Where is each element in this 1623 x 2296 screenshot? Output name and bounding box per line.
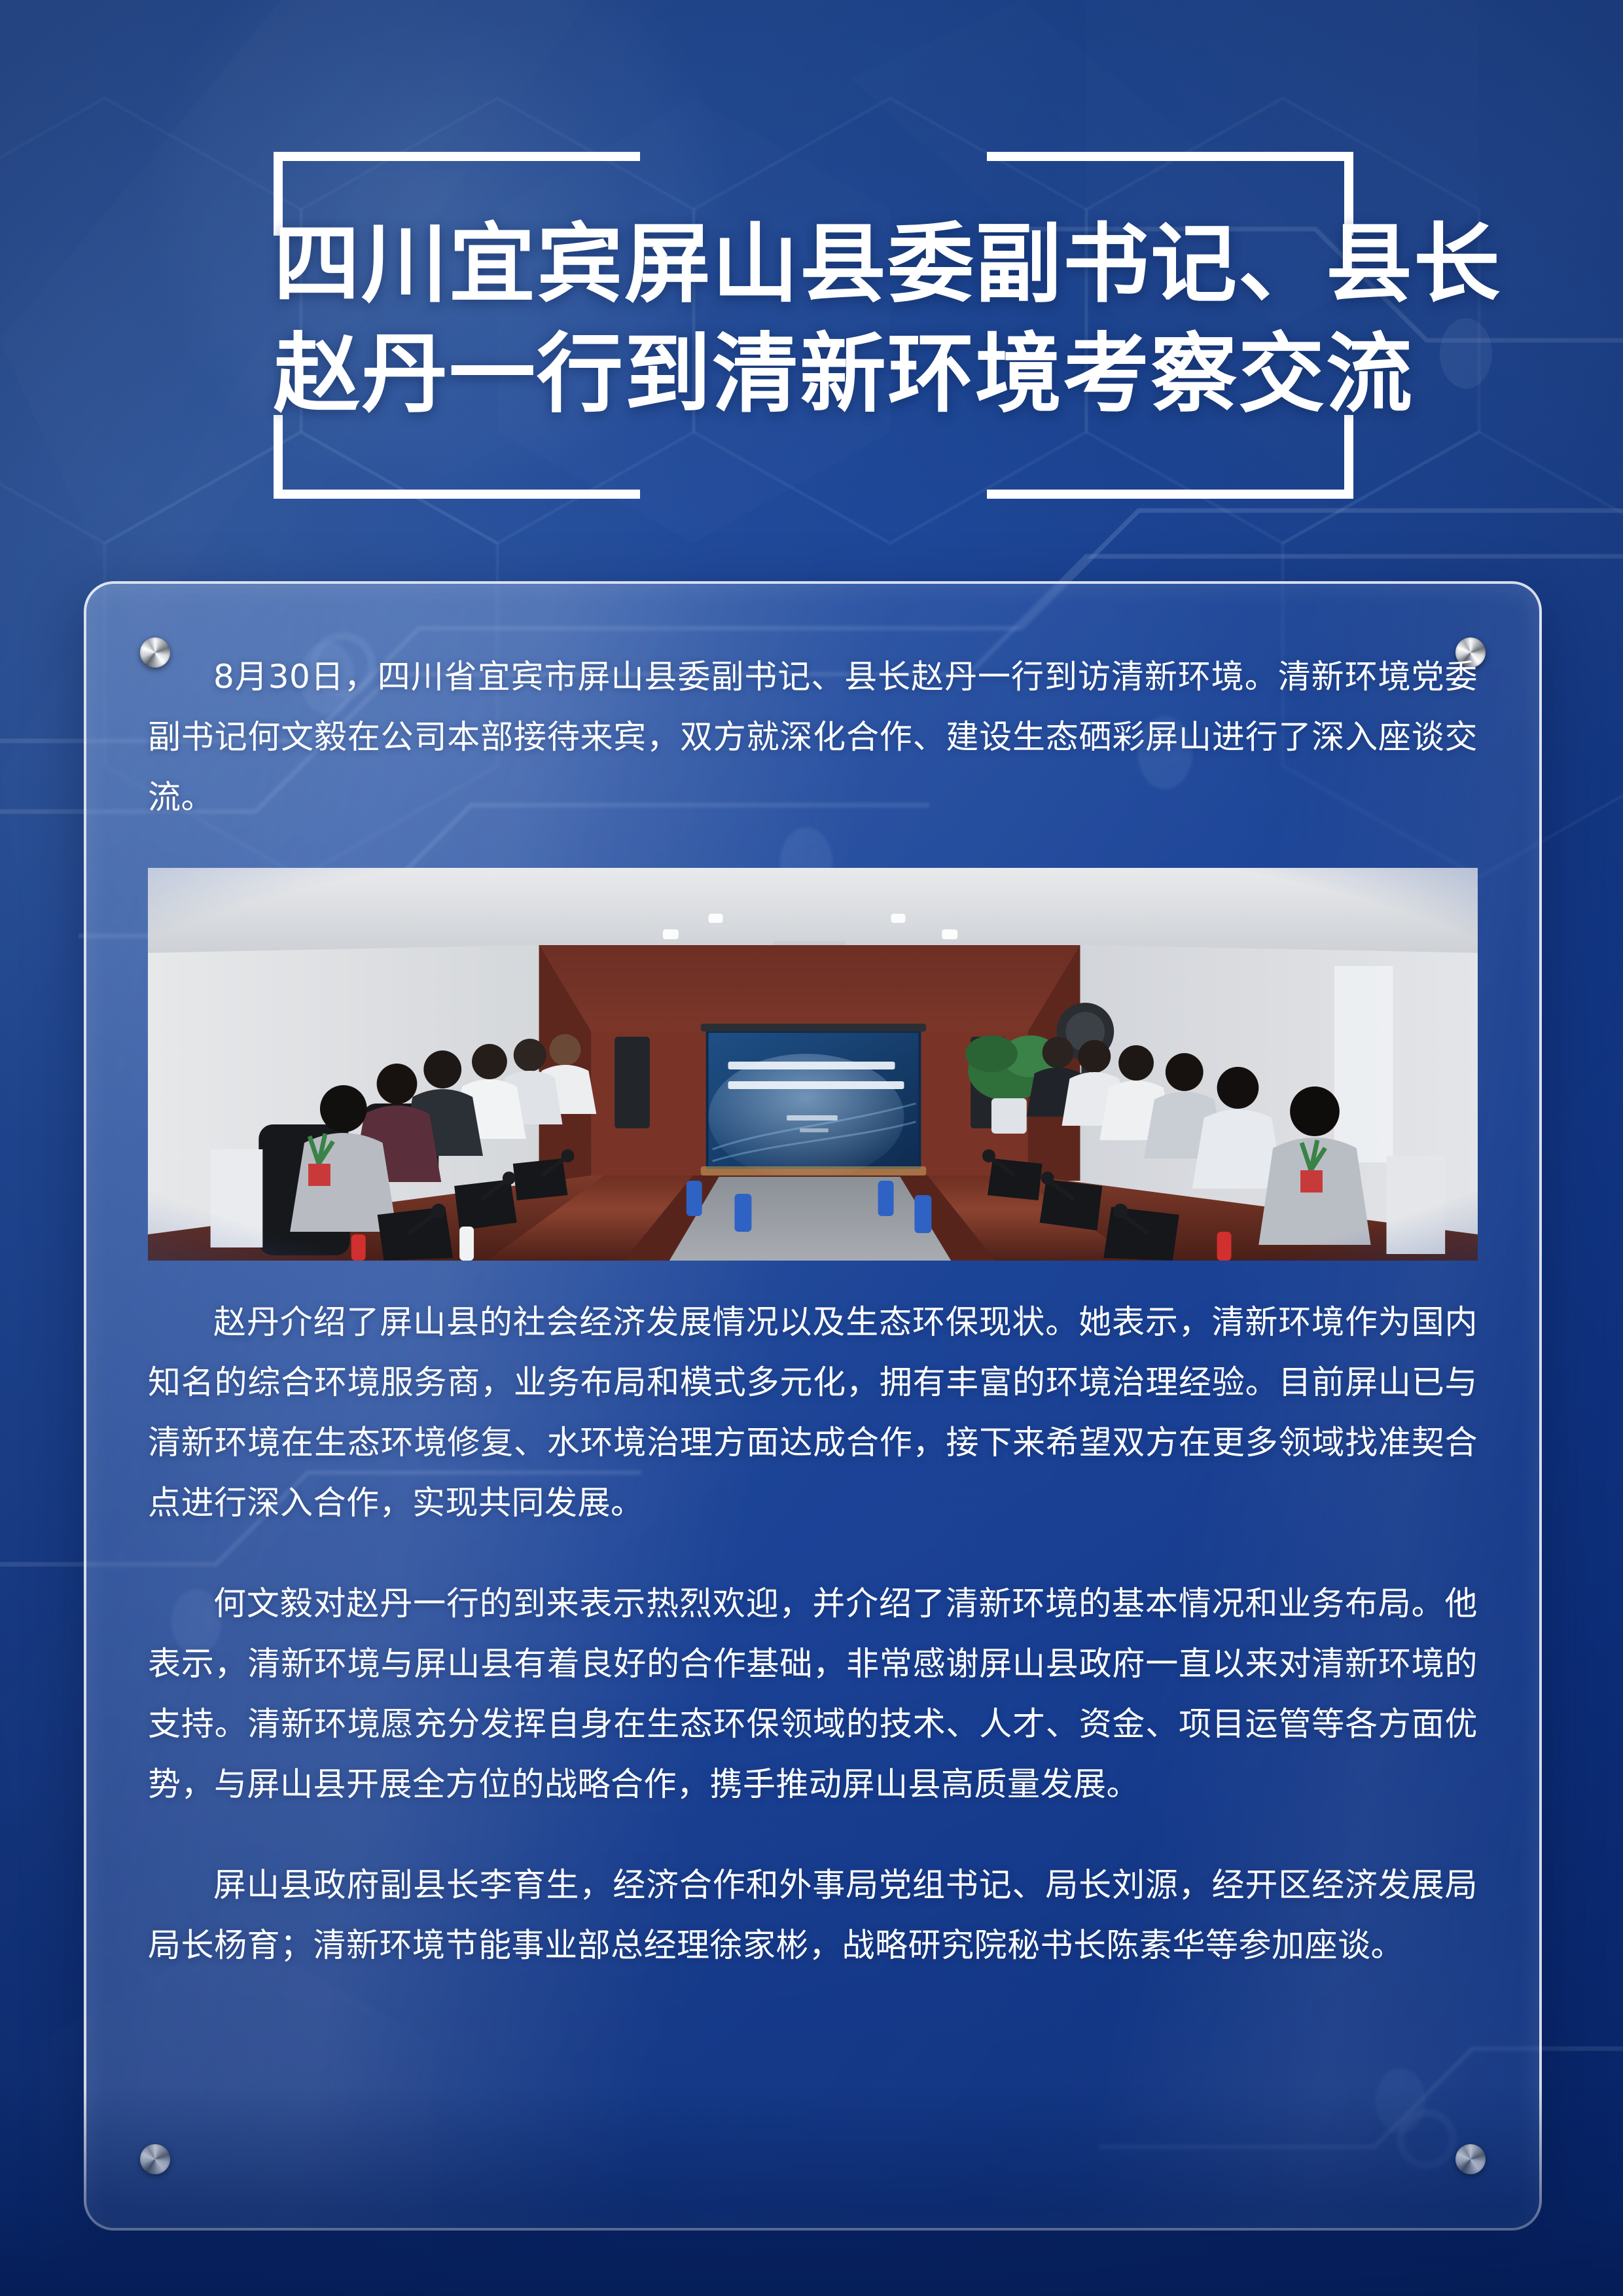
page-title-line-2: 赵丹一行到清新环境考察交流 xyxy=(274,319,1353,429)
article-photo-image xyxy=(148,868,1478,1261)
bracket-bottom-right-horizontal xyxy=(987,490,1353,499)
article-paragraph-1: 8月30日，四川省宜宾市屏山县委副书记、县长赵丹一行到访清新环境。清新环境党委副… xyxy=(148,647,1478,827)
article-paragraph-4: 屏山县政府副县长李育生，经济合作和外事局党组书记、局长刘源，经开区经济发展局局长… xyxy=(148,1855,1478,1975)
meeting-room-illustration xyxy=(148,868,1478,1261)
bracket-top-right-horizontal xyxy=(987,152,1353,161)
poster-root: 四川宜宾屏山县委副书记、县长 赵丹一行到清新环境考察交流 8月30日，四川省宜宾… xyxy=(0,0,1623,2296)
article-paragraph-2: 赵丹介绍了屏山县的社会经济发展情况以及生态环保现状。她表示，清新环境作为国内知名… xyxy=(148,1292,1478,1533)
content-card: 8月30日，四川省宜宾市屏山县委副书记、县长赵丹一行到访清新环境。清新环境党委副… xyxy=(84,581,1542,2231)
poster-header: 四川宜宾屏山县委副书记、县长 赵丹一行到清新环境考察交流 xyxy=(0,152,1623,545)
card-content: 8月30日，四川省宜宾市屏山县委副书记、县长赵丹一行到访清新环境。清新环境党委副… xyxy=(86,584,1539,2228)
bracket-top-left-horizontal xyxy=(274,152,640,161)
page-title-line-1: 四川宜宾屏山县委副书记、县长 xyxy=(274,209,1353,319)
bracket-bottom-left-horizontal xyxy=(274,490,640,499)
article-photo: 屏山县代表团与清新环境座谈会议现场，长条会议桌两侧就座，前方投影幕布显示欢迎标语 xyxy=(148,868,1478,1261)
page-title: 四川宜宾屏山县委副书记、县长 赵丹一行到清新环境考察交流 xyxy=(274,209,1353,429)
article-paragraph-3: 何文毅对赵丹一行的到来表示热烈欢迎，并介绍了清新环境的基本情况和业务布局。他表示… xyxy=(148,1573,1478,1814)
